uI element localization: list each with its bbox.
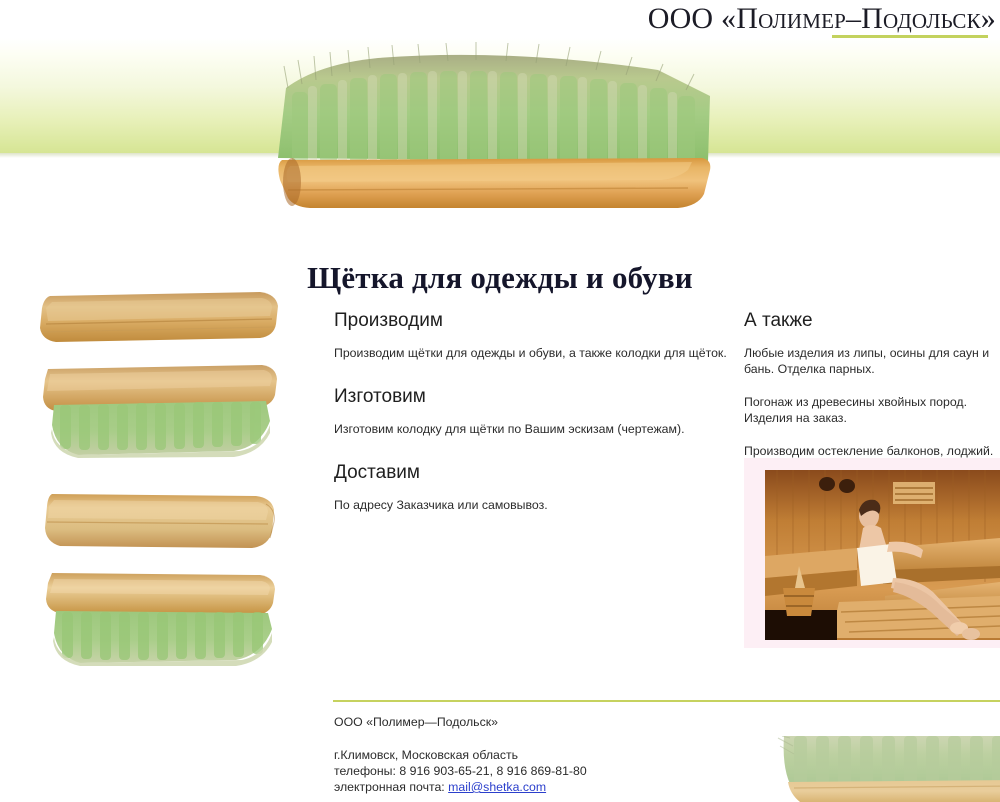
gallery-item-brush-angled[interactable] <box>34 565 309 672</box>
section-body-izgotovim: Изготовим колодку для щётки по Вашим эск… <box>334 421 739 437</box>
footer: ООО «Полимер—Подольск» г.Климовск, Моско… <box>334 714 754 795</box>
footer-divider <box>333 700 1000 702</box>
section-body-pogonazh: Погонаж из древесины хвойных пород. Изде… <box>744 394 1000 426</box>
footer-email-label: электронная почта: <box>334 780 448 794</box>
gallery-item-brush-side[interactable] <box>34 359 309 464</box>
right-content-column: А также Любые изделия из липы, осины для… <box>744 310 1000 476</box>
section-body-glazing: Производим остекление балконов, лоджий. <box>744 443 1000 459</box>
footer-brush-image <box>760 736 1000 802</box>
gallery-item-block-angled[interactable] <box>34 488 309 561</box>
hero-brush-image <box>258 30 728 215</box>
section-body-sauna-products: Любые изделия из липы, осины для саун и … <box>744 345 1000 377</box>
section-body-dostavim: По адресу Заказчика или самовывоз. <box>334 497 739 513</box>
sauna-photo-frame <box>744 458 1000 648</box>
footer-phones: телефоны: 8 916 903-65-21, 8 916 869-81-… <box>334 764 587 778</box>
section-heading-dostavim: Доставим <box>334 462 739 484</box>
section-heading-proizvodim: Производим <box>334 310 739 332</box>
section-body-proizvodim: Производим щётки для одежды и обуви, а т… <box>334 345 739 361</box>
footer-company-name: ООО «Полимер—Подольск» <box>334 714 754 730</box>
product-gallery <box>34 288 309 672</box>
footer-contact-block: г.Климовск, Московская область телефоны:… <box>334 747 754 795</box>
left-content-column: Производим Производим щётки для одежды и… <box>334 310 739 538</box>
footer-address: г.Климовск, Московская область <box>334 748 518 762</box>
sauna-interior-photo[interactable] <box>765 470 1000 640</box>
section-heading-a-takzhe: А также <box>744 310 1000 332</box>
footer-email-link[interactable]: mail@shetka.com <box>448 780 546 794</box>
gallery-item-block-top[interactable] <box>34 288 309 355</box>
site-header: ООО «Полимер–Подольск» <box>0 0 1000 40</box>
section-heading-izgotovim: Изготовим <box>334 386 739 408</box>
company-title-underline <box>832 35 988 38</box>
company-title: ООО «Полимер–Подольск» <box>648 2 996 36</box>
